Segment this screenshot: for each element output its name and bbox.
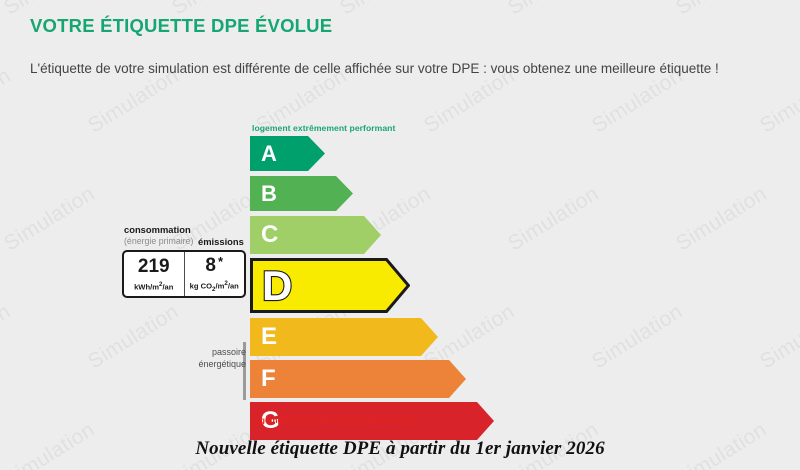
emissions-asterisk: * (218, 254, 223, 269)
emissions-cell: 8* kg CO2/m2/an (184, 252, 245, 296)
value-readout-box: 219 kWh/m2/an 8* kg CO2/m2/an (122, 250, 246, 298)
dpe-bar-letter: A (250, 143, 277, 165)
dpe-bar-e: E (250, 318, 438, 356)
dpe-bar-d: D (250, 258, 410, 313)
dpe-bar-shape: C (250, 216, 381, 254)
emissions-heading: émissions (198, 236, 244, 247)
passoire-line-1: passoire (188, 346, 246, 358)
consumption-subheading: (énergie primaire) (124, 236, 193, 246)
consumption-heading: consommation (124, 224, 191, 235)
page-subtitle: L'étiquette de votre simulation est diff… (30, 60, 770, 78)
dpe-bar-selected-wrapper: D (250, 258, 410, 313)
dpe-bar-letter: B (250, 183, 277, 205)
emissions-value: 8* (205, 256, 223, 275)
consumption-unit: kWh/m2/an (134, 281, 173, 292)
label-caption-bottom: logement extrêmement peu performant (252, 415, 413, 425)
dpe-bar-letter: F (250, 367, 276, 391)
dpe-bar-letter-selected: D (262, 265, 292, 307)
passoire-energetique-label: passoire énergétique (188, 346, 246, 370)
passoire-line-2: énergétique (188, 358, 246, 370)
dpe-bar-shape: B (250, 176, 353, 211)
header: VOTRE ÉTIQUETTE DPE ÉVOLUE L'étiquette d… (0, 0, 800, 78)
footer-caption: Nouvelle étiquette DPE à partir du 1er j… (0, 438, 800, 460)
dpe-bar-letter: E (250, 325, 277, 349)
dpe-bar-c: C (250, 216, 381, 254)
emissions-unit: kg CO2/m2/an (190, 280, 239, 293)
consumption-cell: 219 kWh/m2/an (124, 252, 184, 296)
dpe-energy-label: logement extrêmement performant ABCDEFG … (0, 118, 800, 428)
dpe-bar-shape: E (250, 318, 438, 356)
dpe-bar-a: A (250, 136, 325, 171)
dpe-bar-shape: A (250, 136, 325, 171)
consumption-value: 219 (138, 257, 170, 276)
dpe-bar-f: F (250, 360, 466, 398)
page-title: VOTRE ÉTIQUETTE DPE ÉVOLUE (30, 14, 770, 37)
dpe-bar-letter: C (250, 223, 278, 247)
dpe-bar-b: B (250, 176, 353, 211)
label-caption-top: logement extrêmement performant (252, 123, 395, 133)
dpe-bar-shape: F (250, 360, 466, 398)
